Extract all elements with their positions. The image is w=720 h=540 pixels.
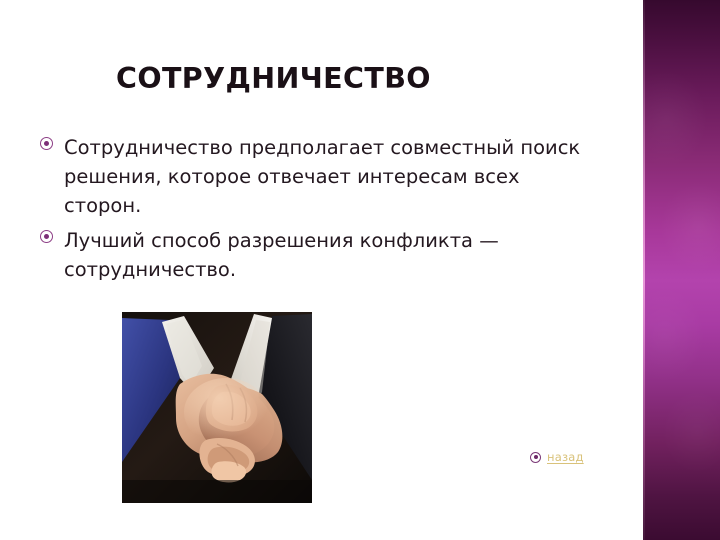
decorative-side-band (643, 0, 720, 540)
back-link[interactable]: назад (547, 450, 584, 464)
list-item-label: Лучший способ разрешения конфликта — сот… (64, 226, 596, 284)
list-item: Сотрудничество предполагает совместный п… (36, 133, 596, 220)
ringed-dot-bullet-icon (40, 230, 53, 243)
back-link-row[interactable]: назад (530, 450, 584, 464)
page-title: СОТРУДНИЧЕСТВО (116, 62, 431, 95)
ringed-dot-bullet-icon (530, 452, 541, 463)
list-item: Лучший способ разрешения конфликта — сот… (36, 226, 596, 284)
bullet-list: Сотрудничество предполагает совместный п… (36, 133, 596, 290)
ringed-dot-bullet-icon (40, 137, 53, 150)
presentation-slide: СОТРУДНИЧЕСТВО Сотрудничество предполага… (0, 0, 720, 540)
handshake-photo (122, 312, 312, 503)
list-item-label: Сотрудничество предполагает совместный п… (64, 133, 596, 220)
